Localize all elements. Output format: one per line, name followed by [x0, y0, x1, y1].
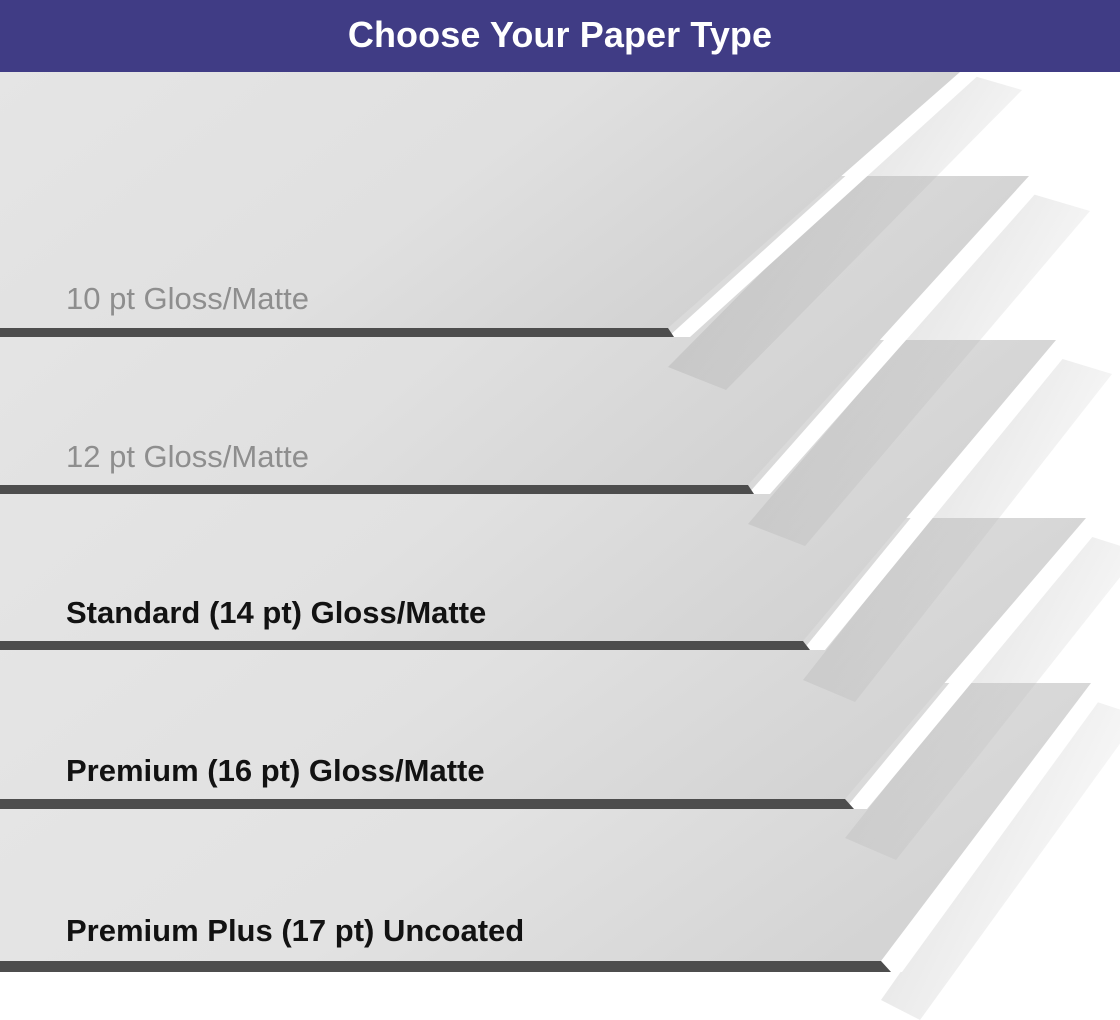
paper-sheet-stack: Premium Plus (17 pt) Uncoated	[0, 0, 1120, 1020]
page-title: Choose Your Paper Type	[0, 0, 1120, 72]
sheet-edge-17pt	[0, 961, 891, 972]
header-banner: Choose Your Paper Type	[0, 0, 1120, 72]
paper-type-selector: Premium Plus (17 pt) Uncoated	[0, 0, 1120, 1020]
paper-sheet-label-16pt[interactable]: Premium (16 pt) Gloss/Matte	[66, 755, 485, 786]
paper-sheet-label-14pt[interactable]: Standard (14 pt) Gloss/Matte	[66, 597, 486, 628]
paper-sheet-label-17pt[interactable]: Premium Plus (17 pt) Uncoated	[66, 915, 524, 946]
paper-sheet-label-12pt[interactable]: 12 pt Gloss/Matte	[66, 441, 309, 472]
paper-sheet-label-10pt[interactable]: 10 pt Gloss/Matte	[66, 283, 309, 314]
sheet-edge-16pt	[0, 799, 854, 809]
sheet-edge-12pt	[0, 485, 754, 494]
sheet-edge-14pt	[0, 641, 810, 650]
sheet-edge-10pt	[0, 328, 674, 337]
